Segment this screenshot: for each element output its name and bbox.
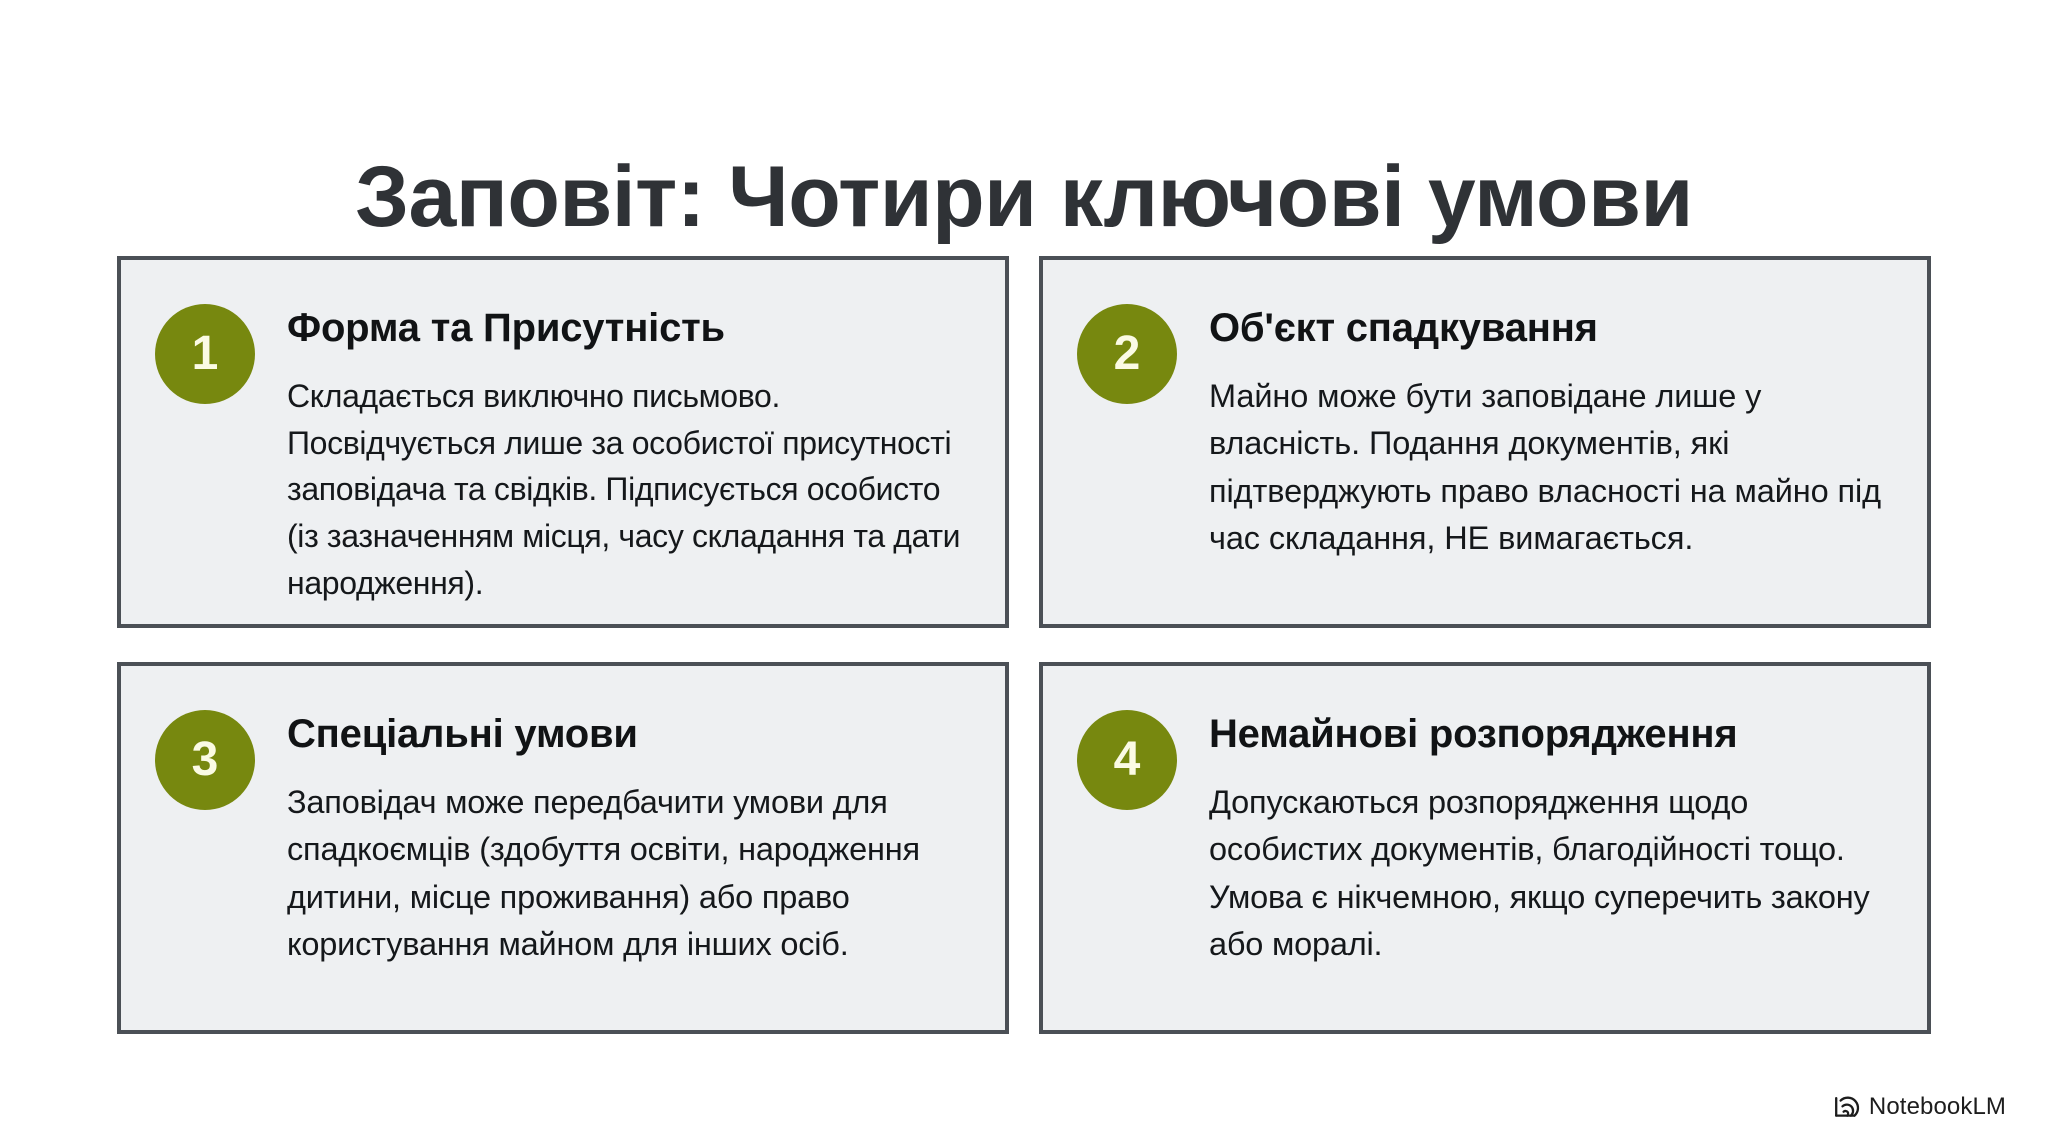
slide-canvas: Заповіт: Чотири ключові умови 1 Форма та…	[0, 0, 2048, 1143]
card-text-block: Об'єкт спадкування Майно може бути запов…	[1209, 300, 1893, 563]
card-heading: Немайнові розпорядження	[1209, 712, 1893, 757]
notebooklm-watermark: NotebookLM	[1834, 1093, 2006, 1121]
card-body: Майно може бути заповідане лише у власні…	[1209, 373, 1893, 563]
card-number-badge: 1	[155, 304, 255, 404]
notebooklm-label: NotebookLM	[1869, 1093, 2006, 1121]
card-number-badge: 3	[155, 710, 255, 810]
card-number-badge: 4	[1077, 710, 1177, 810]
condition-card-3[interactable]: 3 Спеціальні умови Заповідач може передб…	[117, 662, 1009, 1034]
card-heading: Спеціальні умови	[287, 712, 971, 757]
page-title: Заповіт: Чотири ключові умови	[0, 154, 2048, 240]
card-text-block: Форма та Присутність Складається виключн…	[287, 300, 971, 606]
notebooklm-spiral-icon	[1834, 1096, 1860, 1118]
card-body: Допускаються розпорядження щодо особисти…	[1209, 779, 1893, 969]
card-number-badge: 2	[1077, 304, 1177, 404]
card-text-block: Немайнові розпорядження Допускаються роз…	[1209, 706, 1893, 969]
card-heading: Об'єкт спадкування	[1209, 306, 1893, 351]
condition-card-2[interactable]: 2 Об'єкт спадкування Майно може бути зап…	[1039, 256, 1931, 628]
card-text-block: Спеціальні умови Заповідач може передбач…	[287, 706, 971, 969]
card-body: Заповідач може передбачити умови для спа…	[287, 779, 971, 969]
condition-card-4[interactable]: 4 Немайнові розпорядження Допускаються р…	[1039, 662, 1931, 1034]
condition-card-1[interactable]: 1 Форма та Присутність Складається виклю…	[117, 256, 1009, 628]
condition-card-grid: 1 Форма та Присутність Складається виклю…	[117, 256, 1931, 1034]
card-body: Складається виключно письмово. Посвідчує…	[287, 373, 971, 607]
card-heading: Форма та Присутність	[287, 306, 971, 351]
